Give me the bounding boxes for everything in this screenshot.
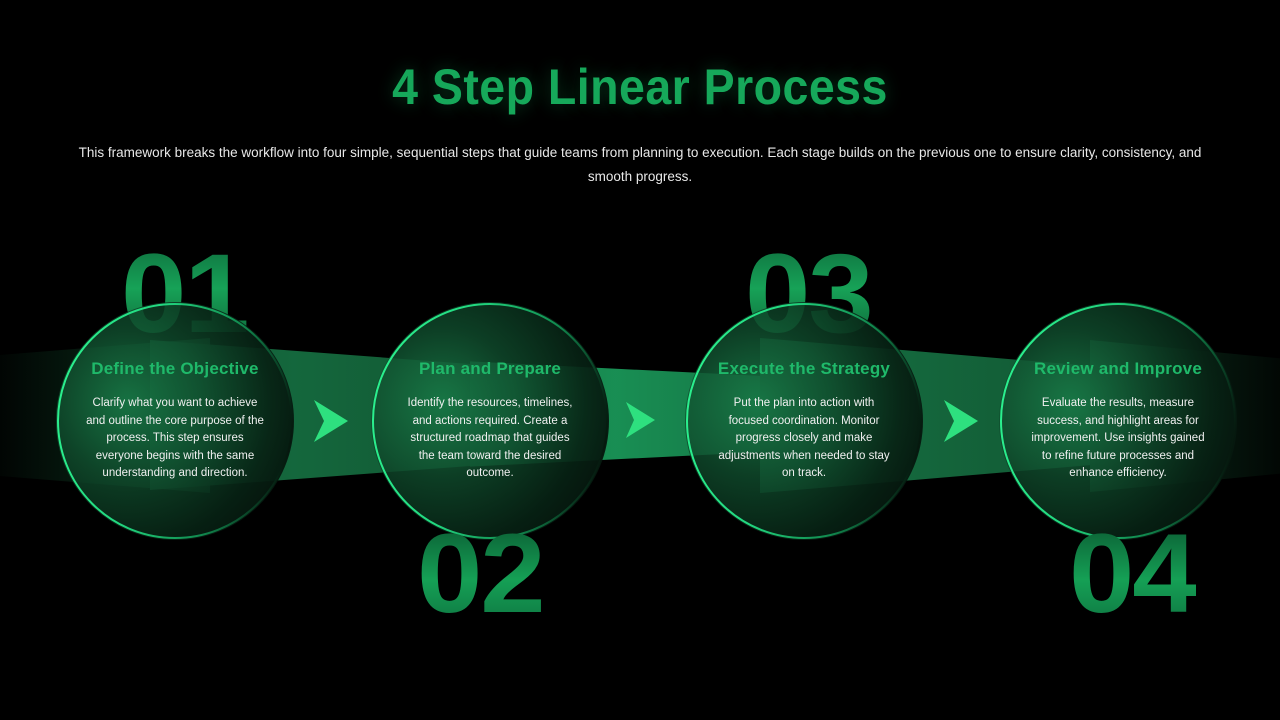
- step-card-body: Put the plan into action with focused co…: [715, 395, 893, 482]
- step-card-title: Plan and Prepare: [419, 359, 561, 379]
- slide-canvas: 4 Step Linear Process This framework bre…: [0, 0, 1280, 720]
- step-card-title: Define the Objective: [91, 359, 258, 379]
- page-subtitle: This framework breaks the workflow into …: [65, 141, 1215, 189]
- step-card-body: Clarify what you want to achieve and out…: [86, 395, 264, 482]
- chevron-right-arrow-icon: [940, 398, 982, 449]
- page-title: 4 Step Linear Process: [45, 58, 1235, 116]
- step-card-title: Execute the Strategy: [718, 359, 890, 379]
- step-card-body: Evaluate the results, measure success, a…: [1029, 395, 1207, 482]
- chevron-right-arrow-icon: [622, 400, 658, 445]
- step-card-1[interactable]: Define the Objective Clarify what you wa…: [56, 302, 294, 540]
- step-card-body: Identify the resources, timelines, and a…: [401, 395, 579, 482]
- step-number-02: 02: [417, 518, 544, 630]
- chevron-right-arrow-icon: [310, 398, 352, 449]
- step-number-04: 04: [1069, 518, 1196, 630]
- step-card-4[interactable]: Review and Improve Evaluate the results,…: [999, 302, 1237, 540]
- step-card-3[interactable]: Execute the Strategy Put the plan into a…: [685, 302, 923, 540]
- step-card-title: Review and Improve: [1034, 359, 1202, 379]
- step-card-2[interactable]: Plan and Prepare Identify the resources,…: [371, 302, 609, 540]
